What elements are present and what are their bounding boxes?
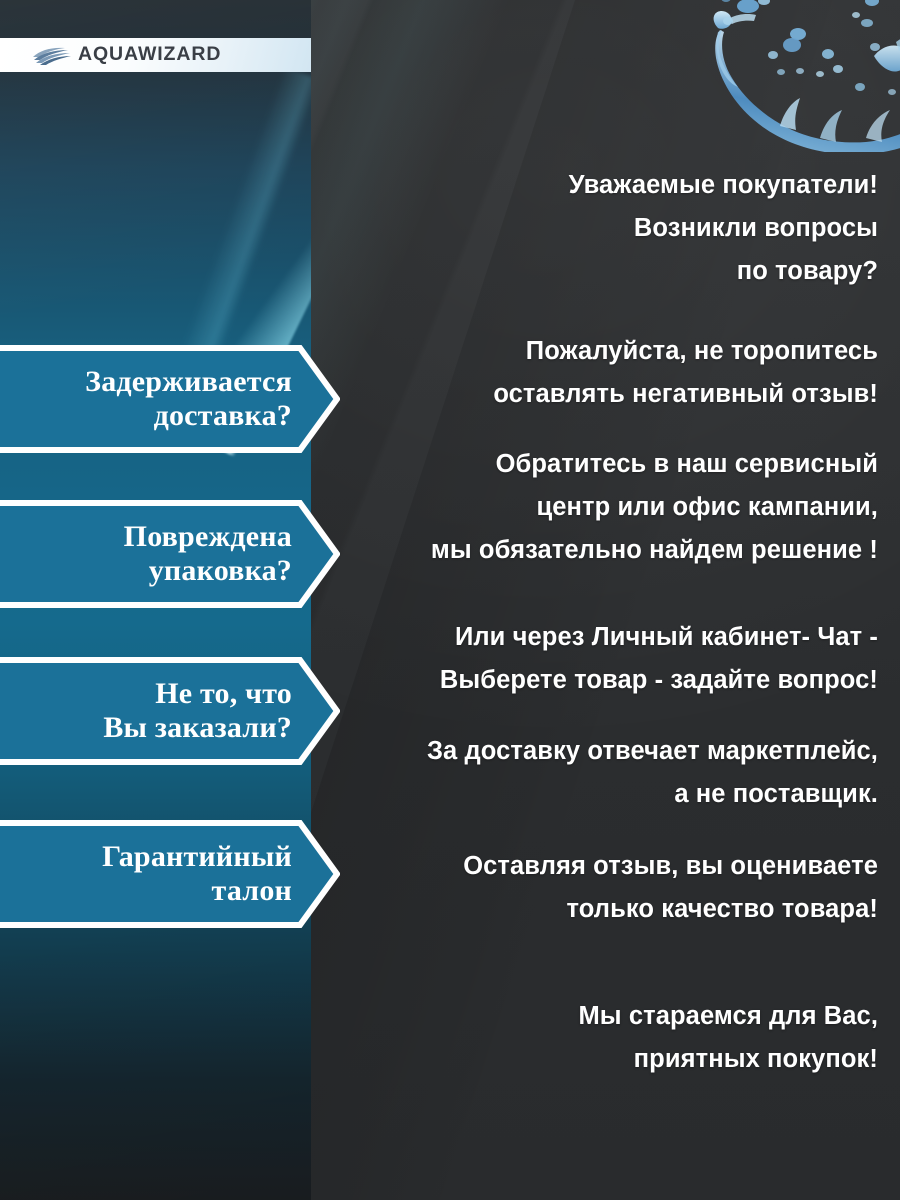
issue-banner-warranty-card[interactable]: Гарантийный талон [0, 820, 340, 928]
promo-infographic: AQUAWIZARD Задерживается доставка? Повре… [0, 0, 900, 1200]
brand-logo-text: AQUAWIZARD [78, 45, 221, 65]
message-block-closing: Мы стараемся для Вас, приятных покупок! [318, 995, 878, 1081]
issue-banner-label: Повреждена упаковка? [110, 520, 340, 587]
issue-banner-label: Не то, что Вы заказали? [89, 677, 340, 744]
issue-banner-label: Задерживается доставка? [71, 365, 340, 432]
issue-banner-wrong-item[interactable]: Не то, что Вы заказали? [0, 657, 340, 765]
wave-icon [32, 45, 72, 65]
message-block-service-center: Обратитесь в наш сервисный центр или офи… [318, 443, 878, 572]
message-block-delivery-note: За доставку отвечает маркетплейс, а не п… [318, 730, 878, 816]
issue-banner-label: Гарантийный талон [88, 840, 340, 907]
brand-logo: AQUAWIZARD [0, 38, 311, 72]
message-block-greeting: Уважаемые покупатели! Возникли вопросы п… [318, 164, 878, 293]
message-block-no-rush: Пожалуйста, не торопитесь оставлять нега… [318, 330, 878, 416]
message-block-chat-path: Или через Личный кабинет- Чат - Выберете… [318, 616, 878, 702]
issue-banner-damaged-package[interactable]: Повреждена упаковка? [0, 500, 340, 608]
issue-banner-delivery-delayed[interactable]: Задерживается доставка? [0, 345, 340, 453]
message-block-review-scope: Оставляя отзыв, вы оцениваете только кач… [318, 845, 878, 931]
